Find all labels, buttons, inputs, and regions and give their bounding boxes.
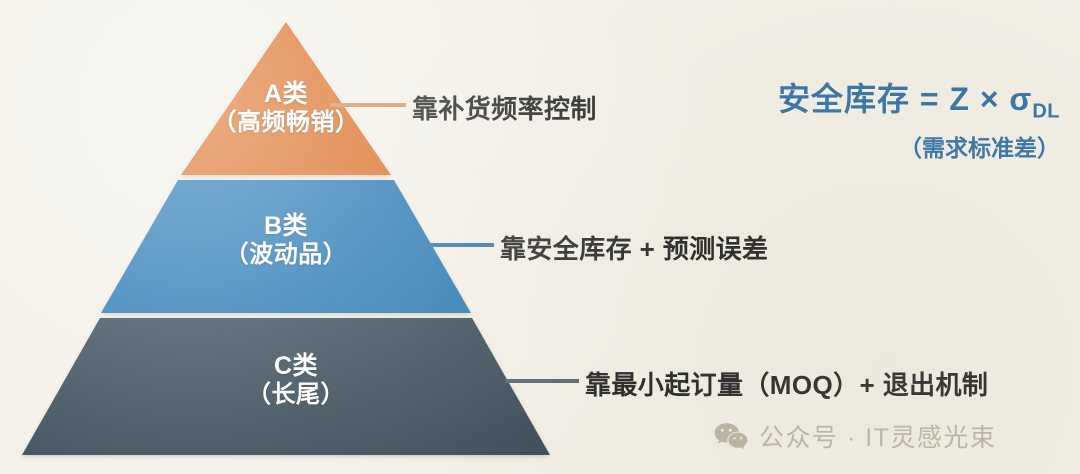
tier-c-main-label: C类 xyxy=(196,352,396,381)
tier-a-sub-label: （高频畅销） xyxy=(186,109,386,136)
safety-stock-formula: 安全库存 = Z × σDL （需求标准差） xyxy=(700,74,1060,163)
pyramid-tier-a-label: A类 （高频畅销） xyxy=(186,80,386,136)
tier-b-sub-label: （波动品） xyxy=(186,241,386,268)
formula-expression-text: 安全库存 = Z × σ xyxy=(778,81,1032,117)
formula-subscript: DL xyxy=(1032,100,1060,122)
tier-c-sub-label: （长尾） xyxy=(196,381,396,408)
formula-expression: 安全库存 = Z × σDL xyxy=(700,74,1060,123)
pyramid-tier-c-label: C类 （长尾） xyxy=(196,352,396,408)
tier-a-main-label: A类 xyxy=(186,80,386,109)
pyramid-tier-b-label: B类 （波动品） xyxy=(186,212,386,268)
wechat-icon xyxy=(714,422,748,450)
watermark-text: 公众号 · IT灵感光束 xyxy=(759,418,996,454)
callout-tier-a: 靠补货频率控制 xyxy=(412,89,597,126)
tier-b-main-label: B类 xyxy=(186,212,386,241)
diagram-canvas: A类 （高频畅销） B类 （波动品） C类 （长尾） 靠补货频率控制 靠安全库存… xyxy=(0,0,1080,474)
callout-tier-b: 靠安全库存 + 预测误差 xyxy=(500,229,768,266)
formula-note: （需求标准差） xyxy=(700,129,1060,163)
callout-tier-c: 靠最小起订量（MOQ）+ 退出机制 xyxy=(585,365,988,402)
watermark: 公众号 · IT灵感光束 xyxy=(714,418,996,454)
